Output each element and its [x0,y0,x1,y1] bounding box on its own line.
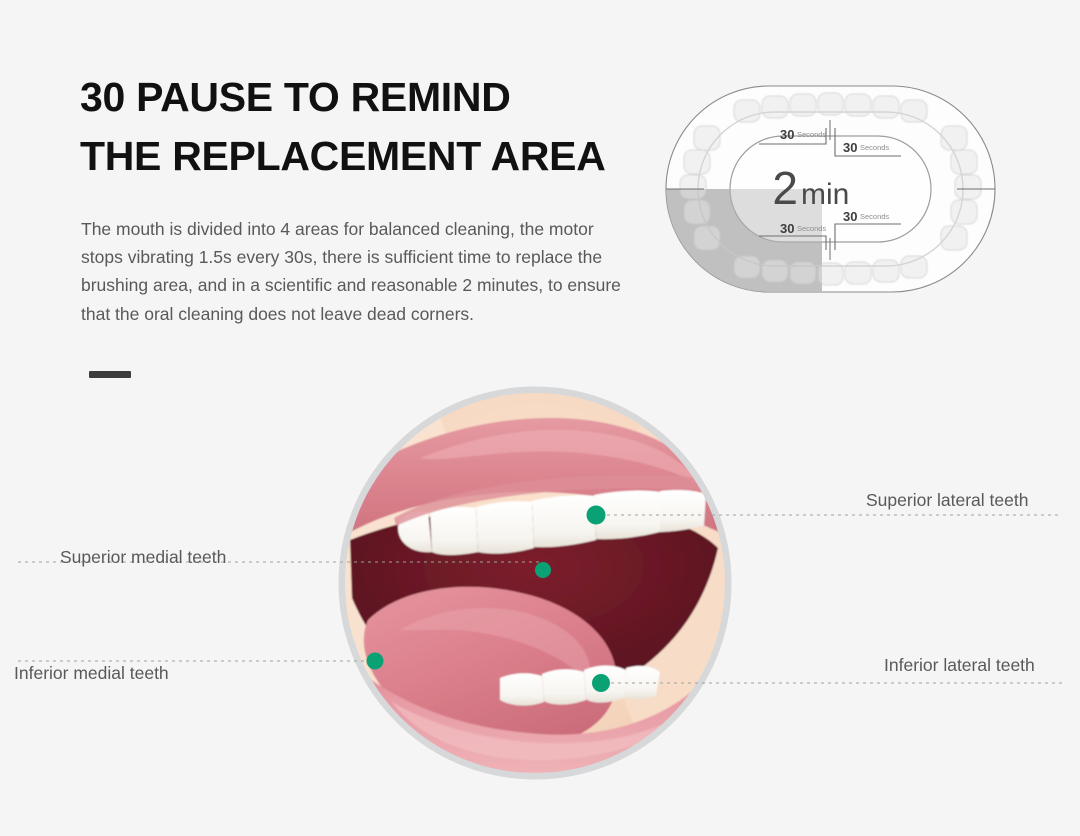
quadrant-upper-left-unit: Seconds [797,130,826,139]
lower-tooth [500,673,544,705]
mouth-illustration-figure [0,330,1080,836]
headline-block: 30 PAUSE TO REMIND THE REPLACEMENT AREA [80,68,680,185]
marker-superior-lateral[interactable] [587,506,606,525]
headline-line-1: 30 PAUSE TO REMIND [80,68,680,127]
headline-line-2: THE REPLACEMENT AREA [80,127,680,186]
callout-label-superior-lateral: Superior lateral teeth [866,490,1028,511]
upper-tooth [430,507,478,555]
marker-superior-medial[interactable] [535,562,551,578]
product-feature-page: 30 PAUSE TO REMIND THE REPLACEMENT AREA … [0,0,1080,836]
callout-label-inferior-medial: Inferior medial teeth [14,663,169,684]
lower-tooth [542,669,586,704]
quadrant-lower-right-unit: Seconds [860,212,889,221]
quadrant-lower-left-unit: Seconds [797,224,826,233]
quadrant-upper-right-unit: Seconds [860,143,889,152]
callout-label-superior-medial: Superior medial teeth [60,547,226,568]
quadrant-lower-right-number: 30 [843,209,857,224]
upper-tooth [660,490,706,532]
arch-center-value: 2 [772,162,798,214]
quadrant-lower-left-number: 30 [780,221,794,236]
arch-center-unit: min [801,178,849,211]
upper-tooth [532,495,596,547]
upper-tooth [476,501,534,553]
body-paragraph: The mouth is divided into 4 areas for ba… [81,215,626,328]
callout-label-inferior-lateral: Inferior lateral teeth [884,655,1035,676]
quadrant-upper-right-number: 30 [843,140,857,155]
quadrant-upper-left-number: 30 [780,127,794,142]
arch-graphic: 30 Seconds 30 Seconds 30 Seconds 30 Seco… [658,86,995,300]
marker-inferior-medial[interactable] [367,653,384,670]
dental-arch-timer-diagram: 30 Seconds 30 Seconds 30 Seconds 30 Seco… [658,78,1003,300]
marker-inferior-lateral[interactable] [592,674,610,692]
